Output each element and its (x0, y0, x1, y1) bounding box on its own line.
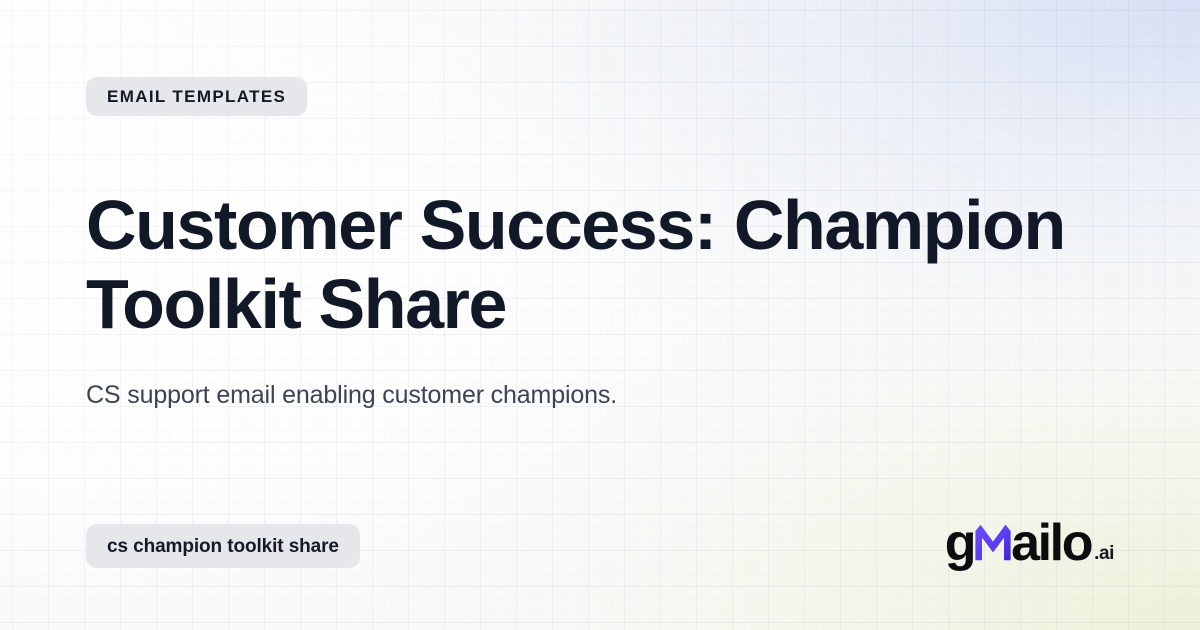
page-subtitle: CS support email enabling customer champ… (86, 378, 986, 412)
brand-logo: g ailo .ai (945, 519, 1114, 569)
brand-letters-ailo: ailo (1011, 517, 1091, 569)
slug-chip-label: cs champion toolkit share (107, 537, 339, 556)
card-content: EMAIL TEMPLATES Customer Success: Champi… (0, 0, 1200, 630)
brand-wordmark: g ailo .ai (945, 517, 1114, 569)
brand-tld: .ai (1094, 544, 1114, 563)
eyebrow-badge-label: EMAIL TEMPLATES (107, 88, 286, 105)
brand-letter-g: g (945, 517, 974, 569)
og-card: EMAIL TEMPLATES Customer Success: Champi… (0, 0, 1200, 630)
slug-chip: cs champion toolkit share (86, 524, 360, 568)
page-title: Customer Success: Champion Toolkit Share (86, 186, 1152, 344)
gmailo-m-mark-icon (974, 524, 1012, 561)
eyebrow-badge: EMAIL TEMPLATES (86, 77, 307, 116)
